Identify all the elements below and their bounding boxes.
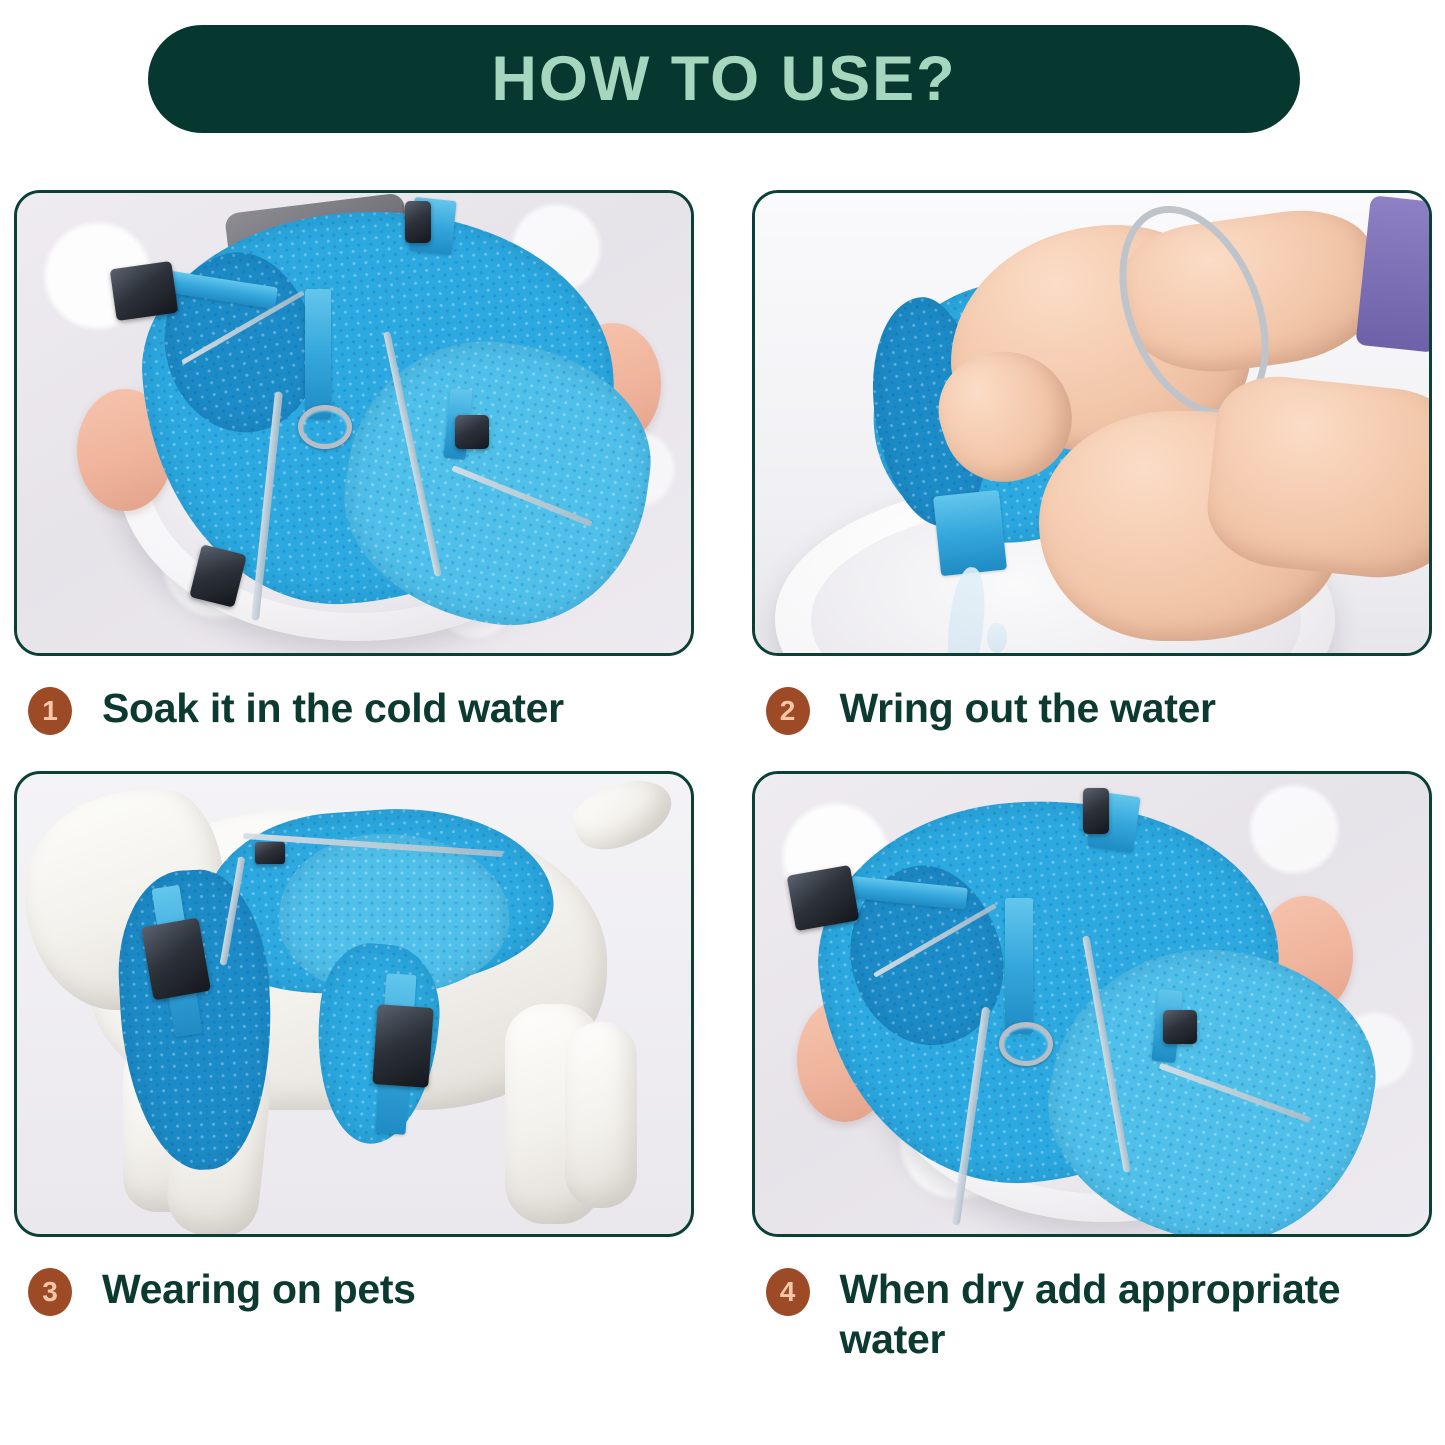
harness-strap-dring <box>305 289 331 419</box>
step-caption-text-3: Wearing on pets <box>102 1264 416 1314</box>
harness-strap-dring-2 <box>1005 898 1033 1034</box>
harness-d-ring-icon-2 <box>999 1022 1053 1066</box>
step-number-badge-3: 3 <box>28 1268 72 1316</box>
harness-d-ring-icon <box>298 405 352 449</box>
step-caption-text-4: When dry add appropriate water <box>840 1264 1440 1364</box>
steps-row-top: 1 Soak it in the cold water <box>0 190 1445 735</box>
step-caption-4: 4 When dry add appropriate water <box>766 1264 1445 1364</box>
step-image-1 <box>14 190 694 656</box>
step-caption-text-1: Soak it in the cold water <box>102 683 564 733</box>
step-card-2: 2 Wring out the water <box>752 190 1445 735</box>
steps-row-bottom: 3 Wearing on pets <box>0 771 1445 1364</box>
step-caption-1: 1 Soak it in the cold water <box>28 683 708 735</box>
step-number-badge-4: 4 <box>766 1268 810 1316</box>
page-title: HOW TO USE? <box>491 48 956 111</box>
step-number-badge-2: 2 <box>766 687 810 735</box>
harness-strap-hanging <box>932 490 1006 576</box>
step-number-badge-1: 1 <box>28 687 72 735</box>
water-droplet-1 <box>987 623 1007 653</box>
page-title-banner: HOW TO USE? <box>148 25 1300 133</box>
steps-grid: 1 Soak it in the cold water <box>0 190 1445 1364</box>
harness-on-dog-buckle-front-icon <box>141 918 211 1001</box>
step-image-4 <box>752 771 1432 1237</box>
step-card-1: 1 Soak it in the cold water <box>14 190 708 735</box>
dog-tail <box>565 771 681 862</box>
harness-on-dog-buckle-rear-icon <box>372 1004 433 1088</box>
step-card-3: 3 Wearing on pets <box>14 771 708 1364</box>
harness-buckle-left-icon <box>110 261 179 321</box>
harness-buckle-side-icon <box>455 415 489 449</box>
harness-buckle-top-icon <box>405 201 431 243</box>
harness-on-dog-clip-icon <box>255 842 285 864</box>
step-image-2 <box>752 190 1432 656</box>
dog-leg-rear-right <box>565 1022 637 1208</box>
step-caption-2: 2 Wring out the water <box>766 683 1445 735</box>
step-image-3 <box>14 771 694 1237</box>
hand-right-forearm <box>1201 370 1431 585</box>
step-caption-text-2: Wring out the water <box>840 683 1216 733</box>
step-card-4: 4 When dry add appropriate water <box>752 771 1445 1364</box>
harness-buckle-left-icon-2 <box>786 865 859 931</box>
harness-buckle-top-icon-2 <box>1083 788 1109 834</box>
water-splash <box>915 653 1145 656</box>
harness-buckle-side-icon-2 <box>1163 1010 1197 1044</box>
step-caption-3: 3 Wearing on pets <box>28 1264 708 1316</box>
